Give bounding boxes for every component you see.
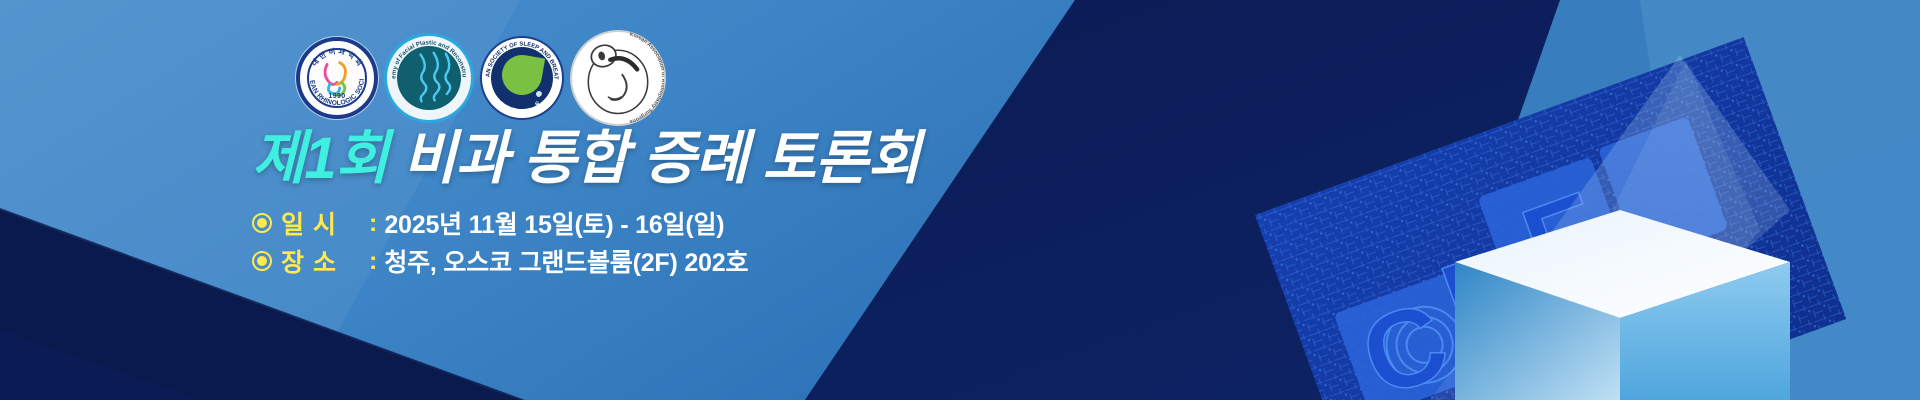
info-label-venue: 장 소: [281, 243, 369, 279]
bullet-icon: [252, 213, 272, 233]
logo1-emblem-glyph: [300, 41, 374, 115]
logo1-year: 1990: [300, 93, 374, 100]
info-row-venue: 장 소 : 청주, 오스코 그랜드볼룸(2F) 202호: [252, 242, 748, 280]
society-logo-row: 대 한 비 과 학 회 KOREAN RHINOLOGIC SOCIETY 19…: [296, 26, 666, 130]
logo3-kr-text: 대 한 수 면 호 흡 학 회: [497, 93, 548, 111]
logo4-english-ring-text: Korean Association of Rhinoplasty Surgeo…: [572, 32, 664, 124]
title-highlight: 제1회: [252, 126, 388, 191]
banner-title: 제1회 비과 통합 증례 토론회: [252, 129, 920, 190]
svg-text:Korean Association of Rhinopla: Korean Association of Rhinoplasty Surgeo…: [629, 32, 664, 124]
conference-banner: C R E 대 한 비 과 학 회: [0, 0, 1920, 400]
korean-rhinologic-society-logo: 대 한 비 과 학 회 KOREAN RHINOLOGIC SOCIETY 19…: [296, 37, 378, 119]
banner-background: C R E: [0, 0, 1920, 400]
bullet-icon: [252, 251, 272, 271]
logo2-face-profile-icon: [387, 36, 471, 120]
korean-society-sleep-breathing-logo: KOREAN SOCIETY OF SLEEP AND BREATHING 대 …: [480, 36, 564, 120]
svg-text:대 한 수 면 호 흡 학 회: 대 한 수 면 호 흡 학 회: [497, 93, 548, 111]
banner-info-list: 일 시 : 2025년 11월 15일(토) - 16일(일) 장 소 : 청주…: [252, 204, 748, 280]
korean-academy-facial-plastic-logo: Korean Academy of Facial Plastic and Rec…: [384, 33, 474, 123]
info-row-date: 일 시 : 2025년 11월 15일(토) - 16일(일): [252, 204, 748, 242]
info-label-date: 일 시: [281, 205, 369, 241]
logo3-korean-ring-text: 대 한 수 면 호 흡 학 회: [482, 38, 562, 118]
info-value-date: 2025년 11월 15일(토) - 16일(일): [384, 205, 724, 241]
info-colon-venue: :: [369, 247, 377, 276]
korean-rhinoplasty-society-logo: Korean Association of Rhinoplasty Surgeo…: [570, 30, 666, 126]
info-value-venue: 청주, 오스코 그랜드볼룸(2F) 202호: [384, 243, 748, 279]
logo4-en-text: Korean Association of Rhinoplasty Surgeo…: [629, 32, 664, 124]
info-colon-date: :: [369, 209, 377, 238]
background-shapes: C R E: [0, 0, 1920, 400]
title-rest: 비과 통합 증례 토론회: [403, 126, 920, 191]
